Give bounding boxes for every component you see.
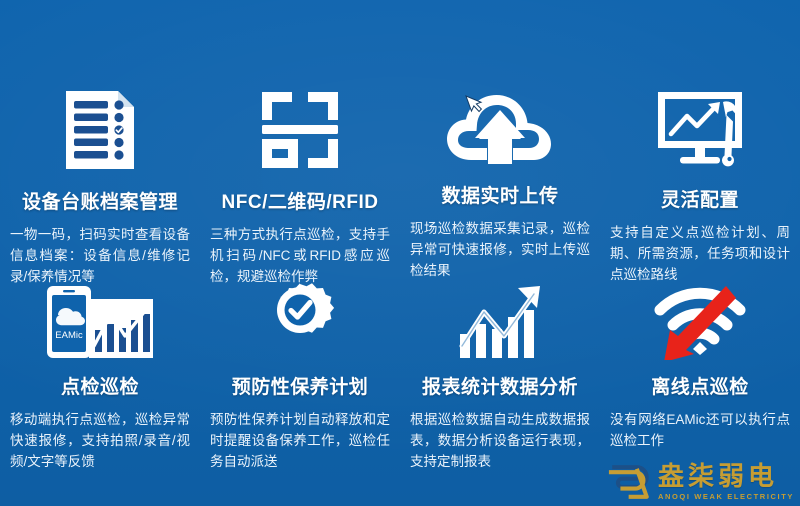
mobile-logo-label: EAMic xyxy=(55,330,83,341)
document-checklist-icon xyxy=(62,88,138,172)
feature-description: 支持自定义点巡检计划、周期、所需资源，任务项和设计点巡检路线 xyxy=(610,223,790,286)
icon-container xyxy=(652,88,748,170)
gear-check-icon xyxy=(260,282,340,360)
icon-container xyxy=(62,88,138,172)
feature-title: 预防性保养计划 xyxy=(232,372,369,399)
monitor-wrench-icon xyxy=(652,88,748,170)
watermark: 盎柒弱电 ANOQI WEAK ELECTRICITY xyxy=(604,460,794,504)
icon-container xyxy=(258,88,342,172)
feature-title: NFC/二维码/RFID xyxy=(222,187,379,214)
feature-description: 移动端执行点巡检，巡检异常快速报修，支持拍照/录音/视频/文字等反馈 xyxy=(10,410,190,473)
cloud-upload-icon xyxy=(445,88,555,166)
feature-card-nfc-qr-rfid[interactable]: NFC/二维码/RFID 三种方式执行点巡检，支持手机扫码/NFC或RFID感应… xyxy=(200,88,400,280)
feature-description: 没有网络EAMic还可以执行点巡检工作 xyxy=(610,410,790,452)
feature-description: 一物一码，扫码实时查看设备信息档案：设备信息/维修记录/保养情况等 xyxy=(10,225,190,288)
feature-title: 点检巡检 xyxy=(61,372,139,399)
feature-description: 三种方式执行点巡检，支持手机扫码/NFC或RFID感应巡检，规避巡检作弊 xyxy=(210,225,390,288)
feature-card-point-inspection[interactable]: EAMic 点检巡检 移动端执行点巡检，巡检异常快速报修，支持拍照/录音/视频/… xyxy=(0,280,200,490)
feature-card-realtime-upload[interactable]: 数据实时上传 现场巡检数据采集记录，巡检异常可快速报修，实时上传巡检结果 xyxy=(400,88,600,280)
icon-container xyxy=(650,280,750,360)
watermark-text: 盎柒弱电 ANOQI WEAK ELECTRICITY xyxy=(658,463,794,501)
feature-title: 灵活配置 xyxy=(661,185,739,212)
feature-card-flexible-config[interactable]: 灵活配置 支持自定义点巡检计划、周期、所需资源，任务项和设计点巡检路线 xyxy=(600,88,800,280)
qr-scan-icon xyxy=(258,88,342,172)
feature-title: 离线点巡检 xyxy=(651,372,749,399)
icon-container xyxy=(445,88,555,166)
feature-description: 现场巡检数据采集记录，巡检异常可快速报修，实时上传巡检结果 xyxy=(410,219,590,282)
feature-description: 根据巡检数据自动生成数据报表，数据分析设备运行表现，支持定制报表 xyxy=(410,410,590,473)
feature-grid: 设备台账档案管理 一物一码，扫码实时查看设备信息档案：设备信息/维修记录/保养情… xyxy=(0,0,800,506)
feature-description: 预防性保养计划自动释放和定时提醒设备保养工作，巡检任务自动派送 xyxy=(210,410,390,473)
bar-chart-growth-icon xyxy=(454,284,546,360)
icon-container xyxy=(454,280,546,360)
feature-title: 报表统计数据分析 xyxy=(422,372,578,399)
mobile-chart-icon: EAMic xyxy=(45,284,155,360)
watermark-brand-en: ANOQI WEAK ELECTRICITY xyxy=(658,493,794,501)
feature-card-equipment-ledger[interactable]: 设备台账档案管理 一物一码，扫码实时查看设备信息档案：设备信息/维修记录/保养情… xyxy=(0,88,200,280)
feature-card-report-analytics[interactable]: 报表统计数据分析 根据巡检数据自动生成数据报表，数据分析设备运行表现，支持定制报… xyxy=(400,280,600,490)
feature-card-preventive-maintenance[interactable]: 预防性保养计划 预防性保养计划自动释放和定时提醒设备保养工作，巡检任务自动派送 xyxy=(200,280,400,490)
icon-container: EAMic xyxy=(45,280,155,360)
feature-card-offline-inspection[interactable]: 离线点巡检 没有网络EAMic还可以执行点巡检工作 xyxy=(600,280,800,490)
feature-title: 数据实时上传 xyxy=(441,181,558,208)
feature-title: 设备台账档案管理 xyxy=(22,187,178,214)
anoqi-logo-mark-icon xyxy=(604,460,650,504)
watermark-brand-cn: 盎柒弱电 xyxy=(658,463,794,489)
wifi-offline-icon xyxy=(650,284,750,360)
icon-container xyxy=(260,280,340,360)
